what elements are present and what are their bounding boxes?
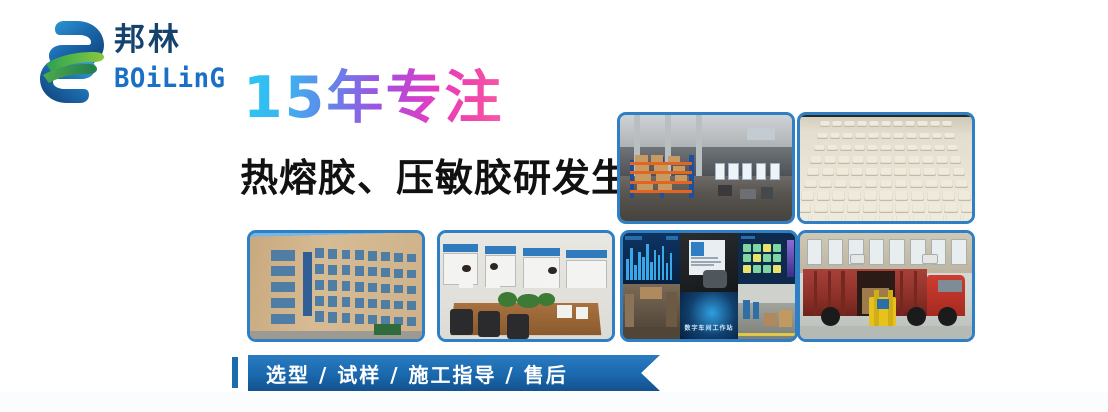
photo-laboratory[interactable] (437, 230, 615, 342)
ribbon-body: 选型 / 试样 / 施工指导 / 售后 (248, 355, 618, 391)
photo-warehouse-racks[interactable] (617, 112, 795, 224)
photo-truck-loading[interactable] (797, 230, 975, 342)
ribbon-tail-notch (618, 355, 660, 391)
brand-name-cn: 邦林 (114, 22, 234, 58)
headline: 15年专注 (243, 66, 503, 130)
photo-office-building[interactable] (247, 230, 425, 342)
ribbon-accent-bar (232, 357, 238, 388)
photo-digital-workshop[interactable]: 数字车间工作站 (620, 230, 798, 342)
boiling-infinity-e-logo-icon (36, 17, 108, 107)
brand-name-en: BOiLinG (114, 62, 228, 95)
photo-adhesive-blocks[interactable] (797, 112, 975, 224)
ribbon-label: 选型 / 试样 / 施工指导 / 售后 (248, 359, 568, 388)
promo-banner: 邦林 BOiLinG 15年专注 热熔胶、压敏胶研发生产 选型 / 试样 / 施… (0, 0, 1108, 412)
subheadline: 热熔胶、压敏胶研发生产 (240, 155, 669, 201)
brand-logo[interactable]: 邦林 BOiLinG (30, 14, 230, 110)
digital-workshop-screen-label: 数字车间工作站 (680, 323, 738, 332)
